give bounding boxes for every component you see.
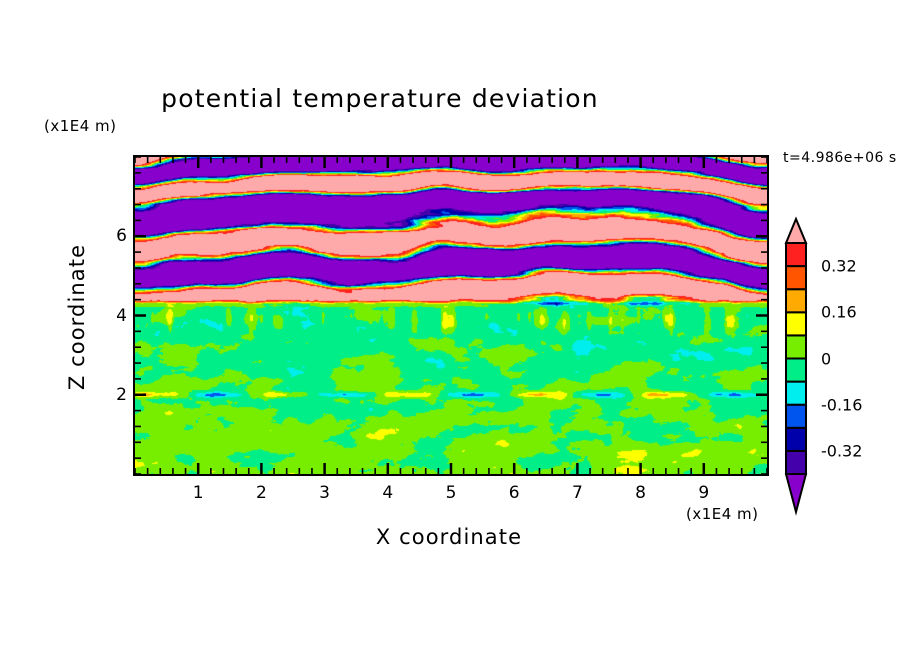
x-tick-label: 2 — [256, 483, 267, 503]
x-tick-label: 5 — [446, 483, 457, 503]
x-tick-label: 9 — [698, 483, 709, 503]
time-annotation: t=4.986e+06 s — [783, 150, 897, 166]
colorbar-tick-label: 0 — [821, 349, 831, 368]
x-tick-label: 3 — [319, 483, 330, 503]
z-axis-unit-label: (x1E4 m) — [44, 117, 117, 135]
x-axis-title: X coordinate — [133, 525, 765, 549]
colorbar-tick-label: 0.32 — [821, 257, 857, 276]
y-tick-label: 6 — [105, 226, 127, 246]
chart-title: potential temperature deviation — [0, 84, 760, 113]
y-tick-label: 4 — [105, 306, 127, 326]
x-tick-label: 8 — [635, 483, 646, 503]
x-axis-unit-label: (x1E4 m) — [686, 505, 759, 523]
colorbar-tick-label: -0.32 — [821, 441, 862, 460]
colorbar-tick-label: 0.16 — [821, 303, 857, 322]
plot-area — [133, 155, 769, 476]
x-tick-label: 4 — [382, 483, 393, 503]
x-tick-label: 1 — [193, 483, 204, 503]
y-axis-title: Z coordinate — [65, 217, 89, 417]
y-tick-label: 2 — [105, 385, 127, 405]
x-tick-label: 6 — [509, 483, 520, 503]
contour-field — [135, 157, 767, 474]
x-tick-label: 7 — [572, 483, 583, 503]
colorbar-tick-label: -0.16 — [821, 395, 862, 414]
figure-root: potential temperature deviation (x1E4 m)… — [0, 0, 904, 654]
